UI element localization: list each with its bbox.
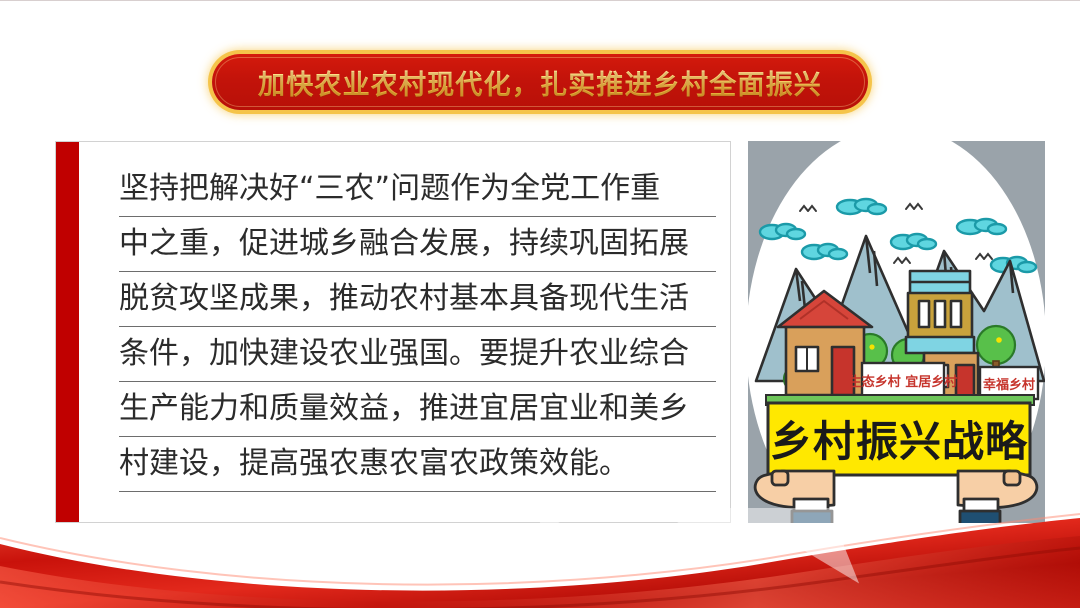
- wechat-icon: [501, 508, 882, 584]
- content-card-body: 坚持把解决好“三农”问题作为全党工作重 中之重，促进城乡融合发展，持续巩固拓展 …: [119, 162, 716, 492]
- body-line: 脱贫攻坚成果，推动农村基本具备现代生活: [119, 272, 716, 327]
- body-line: 中之重，促进城乡融合发展，持续巩固拓展: [119, 217, 716, 272]
- body-line: 村建设，提高强农惠农富农政策效能。: [119, 437, 716, 492]
- body-line: 条件，加快建设农业强国。要提升农业综合: [119, 327, 716, 382]
- slide-root: 加快农业农村现代化，扎实推进乡村全面振兴 坚持把解决好“三农”问题作为全党工作重…: [0, 0, 1080, 608]
- body-line: 坚持把解决好“三农”问题作为全党工作重: [119, 162, 716, 217]
- content-card: 坚持把解决好“三农”问题作为全党工作重 中之重，促进城乡融合发展，持续巩固拓展 …: [55, 141, 731, 523]
- rural-revitalization-illustration: 生态乡村 宜居乡村 幸福乡村 乡村振兴战略: [748, 141, 1045, 523]
- page-title: 加快农业农村现代化，扎实推进乡村全面振兴: [258, 63, 822, 102]
- wall-banner-right-text: 幸福乡村: [983, 377, 1035, 393]
- body-line: 生产能力和质量效益，推进宜居宜业和美乡: [119, 382, 716, 437]
- title-pill: 加快农业农村现代化，扎实推进乡村全面振兴: [212, 54, 868, 110]
- watermark: 公众号 · 讲话提纲: [501, 508, 1062, 584]
- wall-banner-left-text: 生态乡村 宜居乡村: [849, 374, 958, 390]
- title-banner: 加快农业农村现代化，扎实推进乡村全面振兴: [0, 54, 1080, 116]
- sign-text: 乡村振兴战略: [770, 417, 1028, 466]
- footer-ribbon: 公众号 · 讲话提纲: [0, 508, 1080, 608]
- red-accent-bar: [56, 142, 79, 522]
